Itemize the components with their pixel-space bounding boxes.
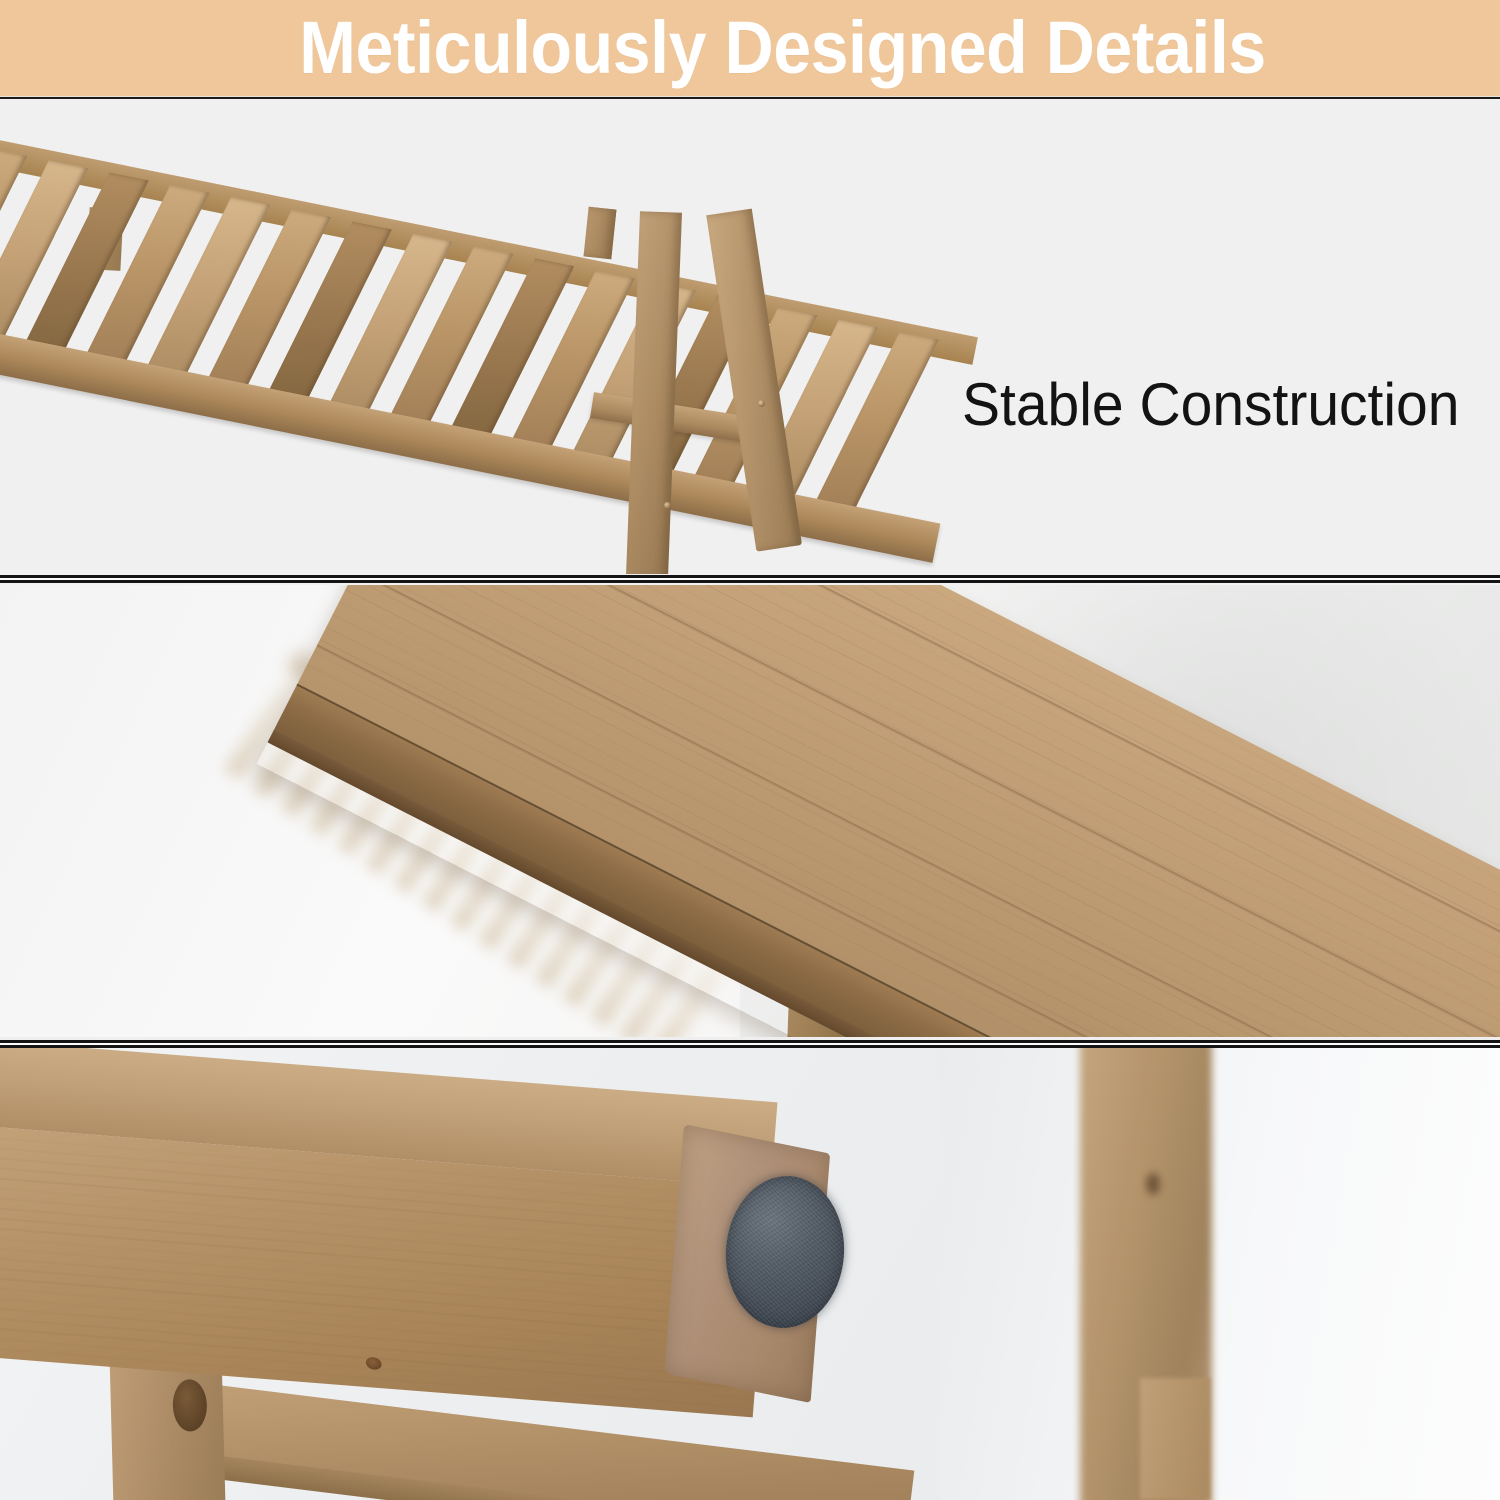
panel-divider-1 xyxy=(0,574,1500,585)
panel-anti-scratch: Anti-Scratch xyxy=(0,1048,1500,1500)
leg-screw xyxy=(664,502,671,509)
foreground-beam xyxy=(0,1048,777,1431)
panel-divider-2 xyxy=(0,1037,1500,1048)
caption-stable-construction: Stable Construction xyxy=(962,372,1459,438)
wood-knot xyxy=(1146,1173,1160,1195)
brace-screw xyxy=(758,400,765,407)
far-right-leg xyxy=(1140,1378,1210,1500)
panel-stable-construction: Stable Construction xyxy=(0,100,1500,574)
panel-thick-tabletop: 1.26" Thick Tabletop xyxy=(0,585,1500,1043)
panel3-right-backdrop xyxy=(940,1048,1500,1500)
banner-title: Meticulously Designed Details xyxy=(235,9,1266,87)
leg-top-stub xyxy=(583,207,616,260)
header-banner: Meticulously Designed Details xyxy=(0,0,1500,96)
product-feature-infographic: Meticulously Designed Details Stable Con… xyxy=(0,0,1500,1500)
shelf-slat-group xyxy=(0,143,962,537)
slatted-shelf xyxy=(0,122,979,574)
